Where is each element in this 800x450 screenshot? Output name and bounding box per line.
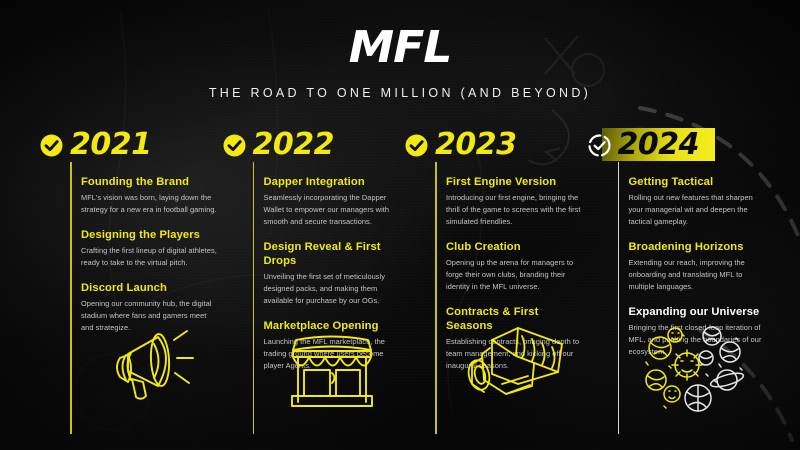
milestone-description: Opening up the arena for managers to for…	[446, 257, 584, 293]
milestone-item: Dapper IntegrationSeamlessly incorporati…	[264, 175, 406, 228]
milestone-item: Designing the PlayersCrafting the first …	[81, 228, 223, 269]
check-circle-filled-icon	[223, 134, 246, 157]
milestone-title: Design Reveal & First Drops	[264, 240, 406, 268]
milestone-title: Founding the Brand	[81, 175, 223, 189]
page-tagline: THE ROAD TO ONE MILLION (AND BEYOND)	[0, 86, 800, 100]
check-circle-filled-icon	[405, 134, 428, 157]
year-header-2021: 2021	[40, 128, 223, 162]
year-label: 2022	[253, 130, 335, 160]
year-label: 2021	[70, 130, 152, 160]
milestone-title: Broadening Horizons	[629, 240, 771, 254]
year-label-wrap: 2024	[618, 128, 700, 162]
milestone-description: Unveiling the first set of meticulously …	[264, 271, 402, 307]
year-header-2023: 2023	[405, 128, 588, 162]
year-label: 2024	[618, 130, 700, 160]
megaphone-icon	[98, 318, 218, 414]
year-label-wrap: 2022	[253, 128, 335, 162]
milestone-item: Getting TacticalRolling out new features…	[629, 175, 771, 228]
milestone-title: Expanding our Universe	[629, 305, 771, 319]
mfl-logo: MFL	[0, 26, 800, 70]
milestone-description: Crafting the first lineup of digital ath…	[81, 245, 219, 269]
milestone-description: Introducing our first engine, bringing t…	[446, 192, 584, 228]
milestone-item: First Engine VersionIntroducing our firs…	[446, 175, 588, 228]
year-header-2022: 2022	[223, 128, 406, 162]
milestone-item: Founding the BrandMFL's vision was born,…	[81, 175, 223, 216]
header: MFL THE ROAD TO ONE MILLION (AND BEYOND)	[0, 26, 800, 100]
milestone-description: Extending our reach, improving the onboa…	[629, 257, 767, 293]
illustration-row	[40, 318, 770, 423]
year-label-wrap: 2023	[435, 128, 517, 162]
planets-universe-icon	[636, 318, 752, 418]
year-header-2024: 2024	[588, 128, 771, 162]
milestone-description: MFL's vision was born, laying down the s…	[81, 192, 219, 216]
milestone-list: Founding the BrandMFL's vision was born,…	[81, 162, 223, 334]
milestone-description: Seamlessly incorporating the Dapper Wall…	[264, 192, 402, 228]
milestone-title: Discord Launch	[81, 281, 223, 295]
milestone-title: Getting Tactical	[629, 175, 771, 189]
milestone-title: Dapper Integration	[264, 175, 406, 189]
check-circle-filled-icon	[40, 134, 63, 157]
year-label: 2023	[435, 130, 517, 160]
check-circle-dashed-icon	[588, 134, 611, 157]
milestone-description: Rolling out new features that sharpen yo…	[629, 192, 767, 228]
storefront-icon	[280, 318, 384, 410]
milestone-title: Designing the Players	[81, 228, 223, 242]
milestone-title: Club Creation	[446, 240, 588, 254]
engine-icon	[458, 318, 570, 404]
milestone-item: Design Reveal & First DropsUnveiling the…	[264, 240, 406, 307]
year-label-wrap: 2021	[70, 128, 152, 162]
milestone-item: Broadening HorizonsExtending our reach, …	[629, 240, 771, 293]
milestone-title: First Engine Version	[446, 175, 588, 189]
milestone-item: Club CreationOpening up the arena for ma…	[446, 240, 588, 293]
